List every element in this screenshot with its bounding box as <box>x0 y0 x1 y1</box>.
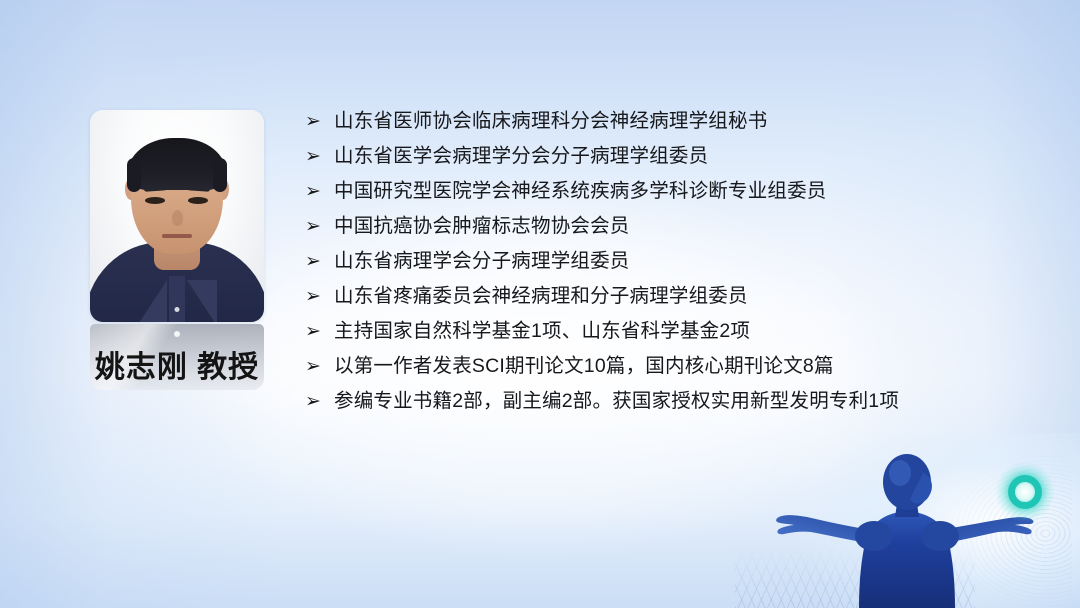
bio-item-text: 山东省医学会病理学分会分子病理学组委员 <box>334 139 708 174</box>
bullet-arrow-icon: ➢ <box>305 104 334 139</box>
bio-list-item: ➢ 山东省医学会病理学分会分子病理学组委员 <box>305 139 1005 174</box>
bullet-arrow-icon: ➢ <box>305 209 334 244</box>
photo-mouth <box>162 234 192 238</box>
bio-item-text: 山东省医师协会临床病理科分会神经病理学组秘书 <box>334 104 767 139</box>
bio-list-item: ➢ 以第一作者发表SCI期刊论文10篇，国内核心期刊论文8篇 <box>305 349 1005 384</box>
bio-item-text: 山东省病理学会分子病理学组委员 <box>334 244 630 279</box>
photo-reflection-band: 姚志刚 教授 <box>90 324 264 390</box>
bullet-arrow-icon: ➢ <box>305 279 334 314</box>
photo-collar-left <box>137 280 167 322</box>
slide-canvas: 姚志刚 教授 ➢ 山东省医师协会临床病理科分会神经病理学组秘书 ➢ 山东省医学会… <box>0 0 1080 608</box>
bullet-arrow-icon: ➢ <box>305 314 334 349</box>
bio-item-text: 主持国家自然科学基金1项、山东省科学基金2项 <box>334 314 750 349</box>
bio-list-item: ➢ 山东省疼痛委员会神经病理和分子病理学组委员 <box>305 279 1005 314</box>
decorative-artwork <box>735 433 1080 608</box>
speaker-photo <box>90 110 264 322</box>
bio-list-item: ➢ 山东省病理学会分子病理学组委员 <box>305 244 1005 279</box>
photo-nose <box>172 210 183 226</box>
photo-eye-right <box>188 197 208 204</box>
bio-list-item: ➢ 参编专业书籍2部，副主编2部。获国家授权实用新型发明专利1项 <box>305 384 1005 419</box>
bio-item-text: 参编专业书籍2部，副主编2部。获国家授权实用新型发明专利1项 <box>334 384 899 419</box>
bio-bullet-list: ➢ 山东省医师协会临床病理科分会神经病理学组秘书 ➢ 山东省医学会病理学分会分子… <box>305 104 1005 419</box>
reflection-highlight-dot <box>174 331 180 337</box>
bullet-arrow-icon: ➢ <box>305 174 334 209</box>
photo-eye-left <box>145 197 165 204</box>
bullet-arrow-icon: ➢ <box>305 244 334 279</box>
photo-shirt-button <box>175 307 180 312</box>
photo-hair-left-side <box>127 158 141 192</box>
bio-list-item: ➢ 中国研究型医院学会神经系统疾病多学科诊断专业组委员 <box>305 174 1005 209</box>
bio-item-text: 以第一作者发表SCI期刊论文10篇，国内核心期刊论文8篇 <box>334 349 834 384</box>
bio-item-text: 山东省疼痛委员会神经病理和分子病理学组委员 <box>334 279 748 314</box>
bullet-arrow-icon: ➢ <box>305 139 334 174</box>
orb-core <box>1016 483 1034 501</box>
bio-list-item: ➢ 中国抗癌协会肿瘤标志物协会会员 <box>305 209 1005 244</box>
bullet-arrow-icon: ➢ <box>305 349 334 384</box>
bio-item-text: 中国抗癌协会肿瘤标志物协会会员 <box>334 209 630 244</box>
photo-collar-right <box>187 280 217 322</box>
photo-shirt-placket <box>169 276 185 322</box>
speaker-name-label: 姚志刚 教授 <box>90 342 264 386</box>
bio-item-text: 中国研究型医院学会神经系统疾病多学科诊断专业组委员 <box>334 174 827 209</box>
glowing-orb-icon <box>1008 475 1042 509</box>
bullet-arrow-icon: ➢ <box>305 384 334 419</box>
photo-hair-right-side <box>213 158 227 192</box>
bio-list-item: ➢ 山东省医师协会临床病理科分会神经病理学组秘书 <box>305 104 1005 139</box>
speaker-portrait-block: 姚志刚 教授 <box>90 110 264 390</box>
bio-list-item: ➢ 主持国家自然科学基金1项、山东省科学基金2项 <box>305 314 1005 349</box>
